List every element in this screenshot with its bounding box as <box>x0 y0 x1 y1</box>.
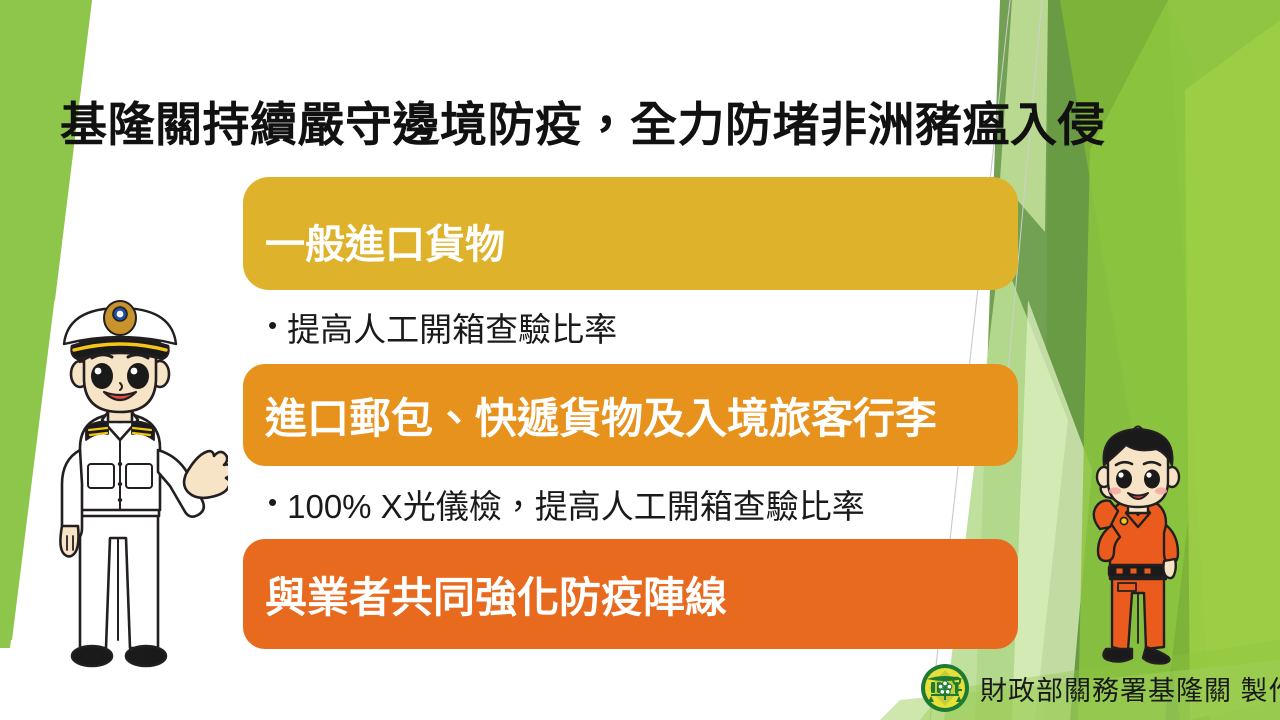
category-band-general-import: 一般進口貨物 <box>243 177 1018 290</box>
footer-credit: 財政部關務署基隆關 製作 <box>920 662 1280 714</box>
page-title: 基隆關持續嚴守邊境防疫，全力防堵非洲豬瘟入侵 <box>60 96 1150 154</box>
bullet-item-2: • 100% X光儀檢，提高人工開箱查驗比率 <box>268 480 865 528</box>
bullet-text: 100% X光儀檢，提高人工開箱查驗比率 <box>287 480 865 528</box>
footer-credit-text: 財政部關務署基隆關 製作 <box>980 669 1280 708</box>
category-band-label: 進口郵包、快遞貨物及入境旅客行李 <box>265 385 937 446</box>
bullet-text: 提高人工開箱查驗比率 <box>287 303 617 351</box>
customs-emblem-icon <box>920 663 970 713</box>
bullet-dot-icon: • <box>268 312 277 338</box>
category-band-industry-cooperation: 與業者共同強化防疫陣線 <box>243 539 1018 649</box>
bullet-item-1: • 提高人工開箱查驗比率 <box>268 303 617 351</box>
category-band-label: 與業者共同強化防疫陣線 <box>265 564 727 625</box>
slide-canvas: 基隆關持續嚴守邊境防疫，全力防堵非洲豬瘟入侵 一般進口貨物 • 提高人工開箱查驗… <box>0 0 1280 720</box>
bullet-dot-icon: • <box>268 489 277 515</box>
customs-officer-mascot-icon <box>18 288 228 688</box>
category-band-label: 一般進口貨物 <box>265 212 505 270</box>
category-band-parcels-express-baggage: 進口郵包、快遞貨物及入境旅客行李 <box>243 364 1018 466</box>
saluting-boy-mascot-icon <box>1060 425 1210 680</box>
green-facet-pale-lower <box>944 250 1068 720</box>
